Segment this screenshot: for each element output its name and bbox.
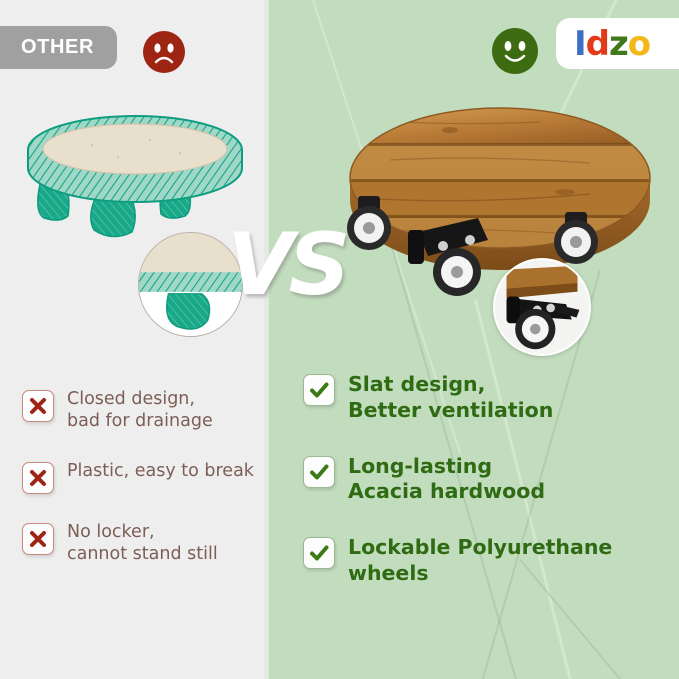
list-item: Long-lasting Acacia hardwood: [303, 454, 668, 506]
list-item-line1: Slat design,: [348, 372, 485, 396]
other-badge: OTHER: [0, 26, 117, 69]
list-item-line2: wheels: [348, 561, 612, 587]
list-item-text: No locker, cannot stand still: [54, 521, 218, 566]
logo-letter-o: o: [628, 27, 650, 61]
list-item-line1: Long-lasting: [348, 454, 492, 478]
list-item-line2: bad for drainage: [67, 410, 213, 432]
list-item-line2: Better ventilation: [348, 398, 553, 424]
list-item: Plastic, easy to break: [22, 460, 272, 494]
pros-list: Slat design, Better ventilation Long-las…: [303, 372, 668, 617]
comparison-infographic: OTHER Idzo: [0, 0, 679, 679]
other-badge-label: OTHER: [7, 36, 94, 59]
logo-letter-i: I: [574, 27, 586, 61]
green-check-icon: [303, 456, 335, 488]
list-item-text: Closed design, bad for drainage: [54, 388, 213, 433]
brand-logo-badge: Idzo: [556, 18, 679, 69]
list-item-line1: Closed design,: [67, 389, 195, 409]
list-item: Lockable Polyurethane wheels: [303, 535, 668, 587]
green-check-icon: [303, 537, 335, 569]
green-check-icon: [303, 374, 335, 406]
vs-label: VS: [227, 222, 346, 308]
happy-face-icon: [492, 28, 538, 74]
list-item-text: Slat design, Better ventilation: [335, 372, 553, 424]
list-item-line1: Plastic, easy to break: [67, 461, 254, 481]
red-x-icon: [22, 390, 54, 422]
sad-face-icon: [143, 31, 185, 73]
brand-logo-text: Idzo: [556, 27, 650, 61]
list-item-line1: No locker,: [67, 522, 155, 542]
locking-caster-wheel-closeup-inset: [493, 258, 591, 356]
list-item: No locker, cannot stand still: [22, 521, 272, 566]
cons-list: Closed design, bad for drainage Plastic,…: [22, 388, 272, 593]
list-item: Closed design, bad for drainage: [22, 388, 272, 433]
list-item-text: Lockable Polyurethane wheels: [335, 535, 612, 587]
list-item-text: Long-lasting Acacia hardwood: [335, 454, 545, 506]
logo-letter-d: d: [586, 27, 609, 61]
list-item-line2: cannot stand still: [67, 543, 218, 565]
list-item-text: Plastic, easy to break: [54, 460, 254, 482]
list-item-line1: Lockable Polyurethane: [348, 535, 612, 559]
list-item-line2: Acacia hardwood: [348, 479, 545, 505]
red-x-icon: [22, 523, 54, 555]
list-item: Slat design, Better ventilation: [303, 372, 668, 424]
red-x-icon: [22, 462, 54, 494]
logo-letter-z: z: [609, 27, 628, 61]
